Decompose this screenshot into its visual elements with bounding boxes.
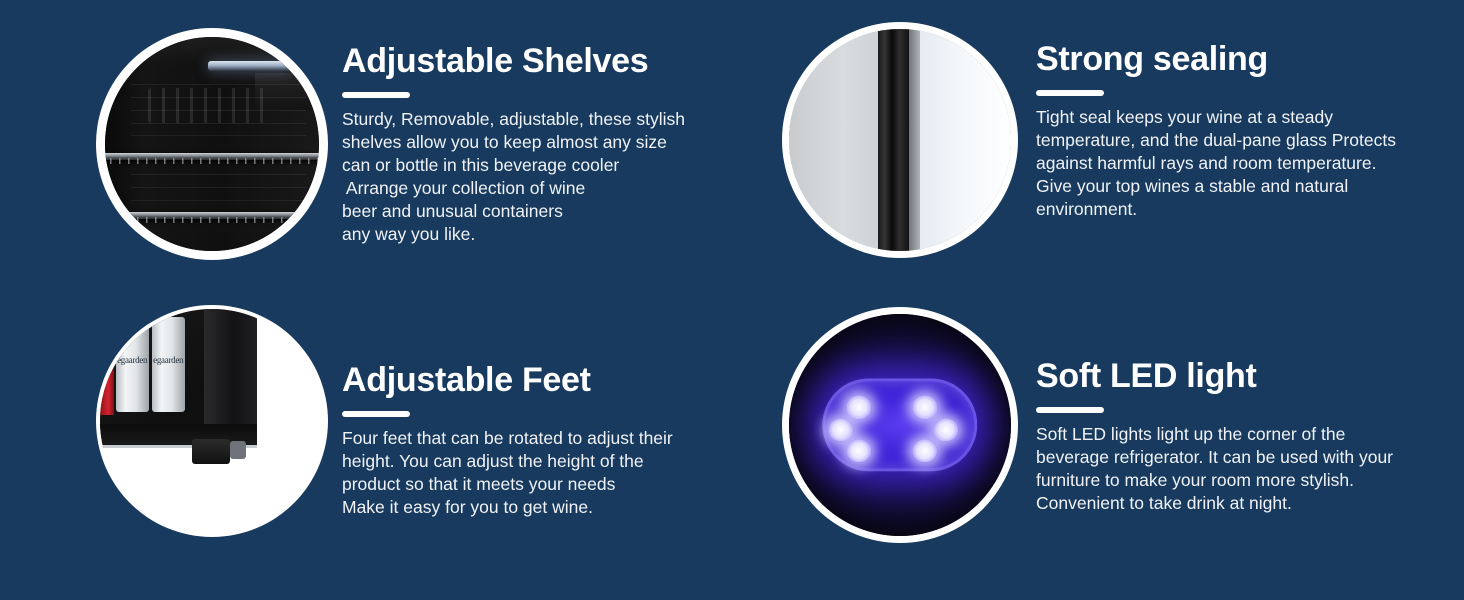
feature-heading: Adjustable Shelves (342, 44, 728, 80)
adjustable-foot-icon (192, 439, 230, 464)
adjustable-foot-icon (230, 441, 246, 459)
heading-accent-bar (342, 411, 410, 417)
shelves-image-circle (96, 28, 328, 260)
led-image-circle (782, 307, 1018, 543)
can-brand-label: egaarden (116, 355, 149, 365)
adjustable-feet-photo: egaarden egaarden (100, 309, 324, 533)
feature-body: Tight seal keeps your wine at a steady t… (1036, 106, 1464, 221)
feature-card-adjustable-shelves: Adjustable Shelves Sturdy, Removable, ad… (0, 0, 728, 295)
heading-accent-bar (1036, 90, 1104, 96)
feature-grid: Adjustable Shelves Sturdy, Removable, ad… (0, 0, 1464, 600)
feature-body: Four feet that can be rotated to adjust … (342, 427, 728, 519)
feet-image-circle: egaarden egaarden (96, 305, 328, 537)
feature-card-adjustable-feet: egaarden egaarden Adjustable Feet (0, 295, 728, 600)
led-module (822, 378, 977, 471)
feature-heading: Strong sealing (1036, 42, 1464, 78)
sealing-image-circle (782, 22, 1018, 258)
heading-accent-bar (1036, 407, 1104, 413)
heading-accent-bar (342, 92, 410, 98)
feature-card-strong-sealing: Strong sealing Tight seal keeps your win… (728, 0, 1464, 295)
fridge-shelves-photo (105, 37, 319, 251)
feature-body: Sturdy, Removable, adjustable, these sty… (342, 108, 728, 246)
feature-heading: Adjustable Feet (342, 363, 728, 399)
blue-led-module-photo (789, 314, 1011, 536)
feature-card-soft-led-light: Soft LED light Soft LED lights light up … (728, 295, 1464, 600)
interior-lamp-icon (208, 61, 294, 71)
rubber-gasket-strip (878, 29, 909, 251)
feature-body: Soft LED lights light up the corner of t… (1036, 423, 1464, 515)
door-gasket-photo (789, 29, 1011, 251)
feature-heading: Soft LED light (1036, 359, 1464, 395)
can-brand-label: egaarden (152, 355, 185, 365)
